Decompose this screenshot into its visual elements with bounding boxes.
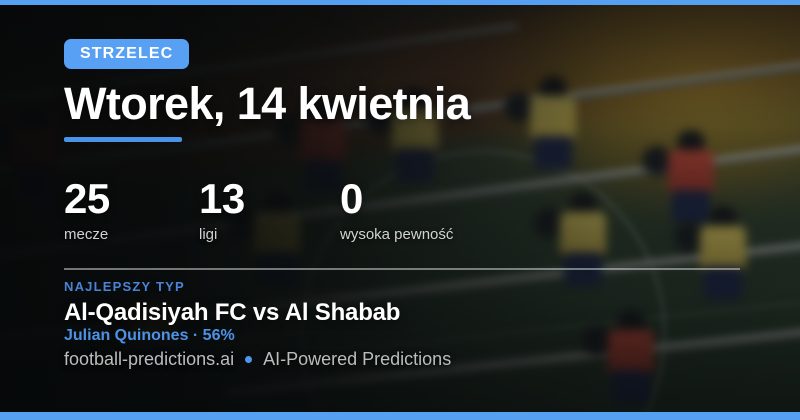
stat-value: 0: [340, 176, 560, 222]
stat-item-high-confidence: 0 wysoka pewność: [340, 176, 560, 244]
stats-row: 25 mecze 13 ligi 0 wysoka pewność: [64, 176, 560, 244]
card-content: STRZELEC Wtorek, 14 kwietnia 25 mecze 13…: [64, 0, 764, 420]
title-underline-rule: [64, 137, 182, 142]
best-tip-eyebrow: NAJLEPSZY TYP: [64, 279, 185, 294]
page-title: Wtorek, 14 kwietnia: [64, 76, 470, 132]
prediction-share-card: STRZELEC Wtorek, 14 kwietnia 25 mecze 13…: [0, 0, 800, 420]
stat-label: mecze: [64, 226, 199, 244]
status-badge: STRZELEC: [64, 39, 189, 69]
bullet-separator-icon: [245, 356, 252, 363]
best-tip-player-probability: Julian Quinones · 56%: [64, 326, 235, 346]
stat-item-matches: 25 mecze: [64, 176, 199, 244]
footer: football-predictions.ai AI-Powered Predi…: [64, 348, 451, 370]
footer-site-name: football-predictions.ai: [64, 348, 234, 370]
best-tip-match: Al-Qadisiyah FC vs Al Shabab: [64, 298, 400, 328]
stat-item-leagues: 13 ligi: [199, 176, 340, 244]
section-divider: [64, 268, 740, 270]
status-badge-label: STRZELEC: [80, 45, 173, 63]
footer-tagline: AI-Powered Predictions: [263, 348, 451, 370]
stat-value: 25: [64, 176, 199, 222]
stat-label: wysoka pewność: [340, 226, 560, 244]
top-accent-bar: [0, 0, 800, 5]
stat-value: 13: [199, 176, 340, 222]
stat-label: ligi: [199, 226, 340, 244]
bottom-accent-bar: [0, 412, 800, 420]
